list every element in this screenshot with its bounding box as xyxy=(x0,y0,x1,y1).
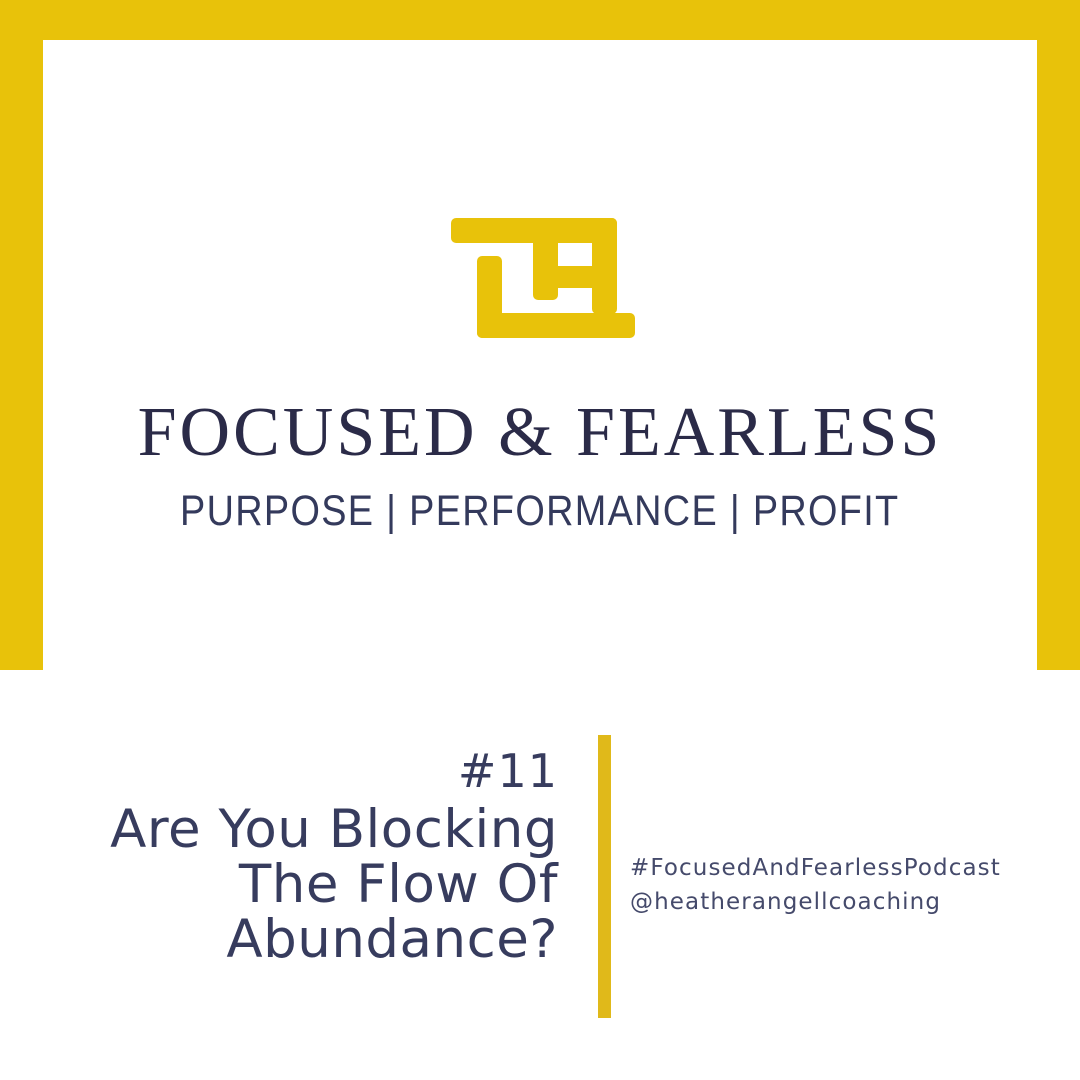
brand-block: FOCUSED & FEARLESS PURPOSE | PERFORMANCE… xyxy=(43,40,1037,670)
episode-number: #11 xyxy=(60,748,558,794)
episode-area: #11 Are You Blocking The Flow Of Abundan… xyxy=(0,670,1080,1080)
podcast-cover-canvas: FOCUSED & FEARLESS PURPOSE | PERFORMANCE… xyxy=(0,0,1080,1080)
vertical-divider xyxy=(598,735,611,1018)
frame-border-top xyxy=(0,0,1080,40)
episode-title-line: Abundance? xyxy=(60,912,558,967)
podcast-hashtag: #FocusedAndFearlessPodcast xyxy=(630,851,1050,885)
hl-monogram-icon xyxy=(445,204,635,340)
frame-border-left xyxy=(0,0,43,670)
episode-info: #11 Are You Blocking The Flow Of Abundan… xyxy=(60,748,558,967)
instagram-handle: @heatherangellcoaching xyxy=(630,885,1050,919)
social-info: #FocusedAndFearlessPodcast @heatherangel… xyxy=(630,851,1050,919)
frame-border-right xyxy=(1037,0,1080,670)
episode-title: Are You Blocking The Flow Of Abundance? xyxy=(60,802,558,967)
episode-title-line: The Flow Of xyxy=(60,857,558,912)
brand-title: FOCUSED & FEARLESS xyxy=(138,398,943,468)
brand-tagline: PURPOSE | PERFORMANCE | PROFIT xyxy=(180,490,899,533)
episode-title-line: Are You Blocking xyxy=(60,802,558,857)
